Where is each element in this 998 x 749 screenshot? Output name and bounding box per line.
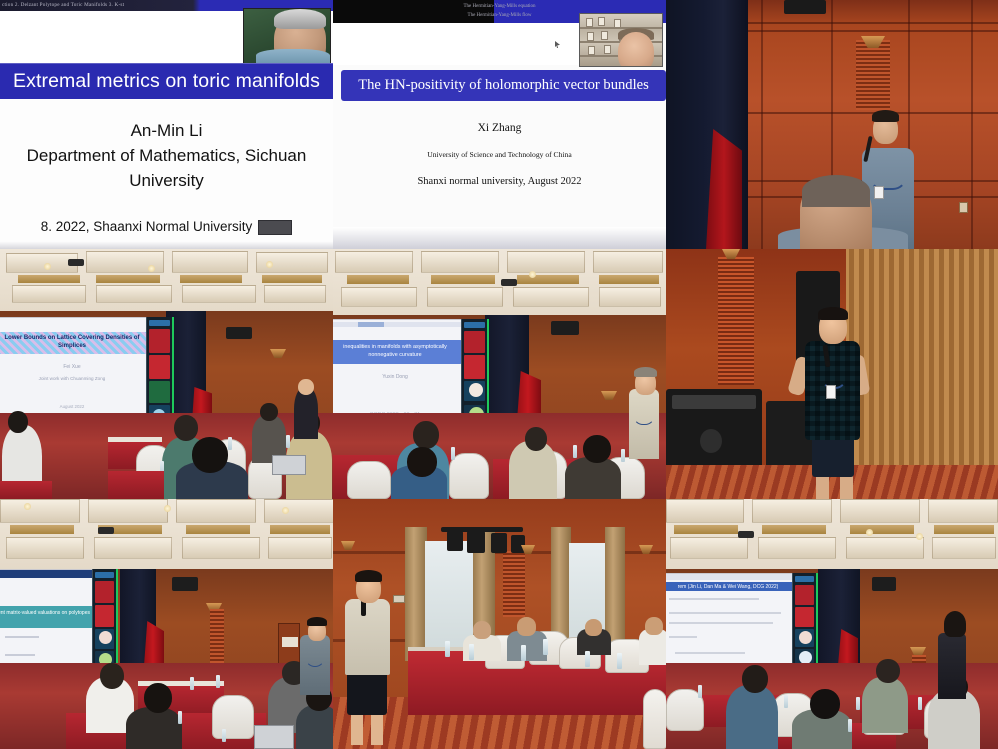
wall-vent-slats	[718, 257, 754, 385]
ceiling-light	[24, 503, 31, 510]
water-bottle	[451, 447, 455, 460]
zoom-avatar[interactable]	[469, 383, 483, 397]
slide-line	[669, 598, 759, 600]
slide-title-text: ent matrix-valued valuations on polytope…	[0, 609, 93, 617]
draped-table	[0, 481, 52, 499]
zoom-avatar[interactable]	[99, 631, 112, 644]
ceiling-projector	[501, 279, 517, 286]
wall-seam	[744, 112, 998, 114]
conference-room-scene: ent matrix-valued valuations on polytope…	[0, 499, 333, 749]
attendee-head	[174, 415, 198, 441]
ceiling-coffer	[593, 251, 663, 273]
wall-speaker	[551, 321, 579, 335]
shelf-box	[614, 19, 621, 28]
stage-light	[511, 535, 525, 553]
speaker-lanyard	[869, 146, 907, 190]
speaker-badge	[874, 186, 884, 199]
panel-photo-room-valuations: ent matrix-valued valuations on polytope…	[0, 499, 333, 749]
slide-bullet	[5, 654, 35, 656]
seated-participant-head	[473, 621, 491, 639]
draped-table	[108, 471, 164, 499]
slide-title-text: Extremal metrics on toric manifolds	[13, 70, 320, 93]
ceiling-coffer	[507, 251, 585, 273]
panel-slide-hn-positivity[interactable]: The Hermitian-Yang-Mills equation The He…	[333, 0, 666, 249]
shelf-box	[601, 31, 608, 40]
slide-bottom-shade	[0, 241, 333, 249]
ceiling-beam	[850, 525, 914, 534]
foreground-attendee-hair	[802, 175, 870, 207]
ceiling-beam	[270, 525, 330, 534]
speaker-hair	[818, 307, 848, 320]
ceiling-coffer	[0, 499, 80, 523]
zoom-toolbar[interactable]	[795, 576, 814, 582]
shelf-box	[586, 18, 593, 27]
slide-venue-text: 8. 2022, Shaanxi Normal University	[41, 219, 253, 234]
ceiling-coffer	[96, 285, 172, 303]
slide-title-text: inequalities in manifolds with asymptoti…	[333, 343, 462, 359]
wall-seam	[744, 22, 998, 24]
speaker-hair	[634, 367, 657, 377]
ceiling-coffer	[176, 499, 256, 523]
ceiling-coffer	[341, 287, 417, 307]
slide-line	[669, 612, 781, 614]
ceiling-coffer	[268, 537, 332, 559]
ceiling-coffer	[427, 287, 503, 307]
panel-photo-room-lattice-covering: Lower Bounds on Lattice Covering Densiti…	[0, 249, 333, 499]
water-bottle	[856, 697, 860, 710]
equipment-rack	[672, 395, 756, 409]
ceiling-light	[44, 263, 51, 270]
stage-light	[447, 531, 463, 551]
water-bottle	[286, 435, 290, 448]
ceiling-coffer	[928, 499, 998, 523]
ceiling-beam	[186, 525, 250, 534]
ceiling-beam	[599, 275, 659, 284]
panel-photo-stage-speaker	[666, 0, 998, 249]
panel-photo-room-inequalities: inequalities in manifolds with asymptoti…	[333, 249, 666, 499]
water-bottle	[621, 449, 625, 462]
water-bottle	[228, 437, 232, 450]
zoom-avatar[interactable]	[799, 631, 812, 644]
ceiling-coffer	[846, 537, 924, 559]
slide-line	[669, 636, 697, 638]
ceiling-light	[282, 507, 289, 514]
attendee-head	[192, 437, 228, 473]
water-bottle	[178, 711, 182, 724]
speaker-hair	[872, 110, 899, 122]
attendee-body	[726, 685, 778, 749]
wall-speaker	[226, 327, 252, 339]
ceiling-light	[529, 271, 536, 278]
ceiling-coffer	[752, 499, 832, 523]
attendee-head	[810, 689, 840, 719]
ceiling-beam	[96, 275, 160, 283]
stage-light	[467, 531, 485, 553]
zoom-thumbnail[interactable]	[149, 381, 170, 403]
slide-affiliation-line2: University	[0, 168, 333, 193]
ceiling-coffer	[758, 537, 836, 559]
panel-slide-extremal-metrics[interactable]: ction 2. Delzant Polytope and Toric Mani…	[0, 0, 333, 249]
slide-tab	[358, 322, 384, 327]
stage-scene	[666, 0, 998, 249]
seated-participant-head	[517, 617, 536, 636]
ceiling-coffer	[932, 537, 996, 559]
photo-collage: ction 2. Delzant Polytope and Toric Mani…	[0, 0, 998, 749]
ceiling-light	[266, 261, 273, 268]
slide-subline-text: Joint work with Chuanming Zong	[0, 376, 147, 381]
slide-title-banner: Extremal metrics on toric manifolds	[0, 63, 333, 99]
slide-toolbar	[333, 322, 462, 327]
shelf-box	[587, 32, 594, 41]
shelf-box	[598, 17, 605, 26]
speaker-hair	[307, 617, 327, 626]
ceiling-beam	[517, 275, 579, 284]
slide-line	[669, 622, 773, 624]
water-bottle	[469, 644, 474, 660]
speaker-hair	[944, 611, 966, 637]
zoom-thumbnail[interactable]	[95, 605, 114, 627]
panel-photo-panel-table	[333, 499, 666, 749]
slide-author-text: Fei Xue	[0, 364, 147, 370]
ceiling-beam	[10, 525, 74, 534]
ceiling-coffer	[12, 285, 86, 303]
panel-photo-room-dcg: rem (Jin Li, Dan Ma & Wei Wang, DCG 2022…	[666, 499, 998, 749]
attendee-head	[100, 663, 124, 689]
zoom-thumbnail[interactable]	[464, 331, 485, 353]
slide-place-date: Shanxi normal university, August 2022	[333, 176, 666, 187]
slide-title-banner: The HN-positivity of holomorphic vector …	[341, 70, 666, 101]
slide-title-text: The HN-positivity of holomorphic vector …	[358, 77, 649, 94]
speaker-lanyard	[633, 395, 655, 425]
slide-title-text: rem (Jin Li, Dan Ma & Wei Wang, DCG 2022…	[666, 583, 793, 591]
wall-outlet	[393, 595, 405, 603]
slide-header-line1: The Hermitian-Yang-Mills equation	[333, 2, 666, 11]
zoom-toolbar[interactable]	[149, 320, 170, 326]
ceiling-beam	[262, 275, 322, 283]
speaker-lanyard	[305, 641, 325, 667]
water-bottle	[521, 645, 526, 661]
ceiling-light	[148, 265, 155, 272]
speaker-shorts	[812, 435, 854, 477]
attendee-head	[583, 435, 611, 463]
ceiling-coffer	[88, 499, 168, 523]
ceiling-projector	[738, 531, 754, 538]
speaker-leg	[351, 711, 363, 745]
ceiling-coffer	[599, 287, 661, 307]
ceiling-beam	[347, 275, 409, 284]
water-bottle	[617, 653, 622, 669]
water-bottle	[216, 675, 220, 688]
slide-venue-line: 8. 2022, Shaanxi Normal University	[0, 219, 333, 235]
ceiling-coffer	[840, 499, 920, 523]
laptop	[254, 725, 294, 749]
ceiling-light	[866, 529, 873, 536]
ceiling-projector	[68, 259, 84, 266]
ceiling-coffer	[335, 251, 413, 273]
ceiling-coffer	[6, 537, 84, 559]
speaker-badge	[826, 385, 836, 399]
ceiling-coffer	[182, 537, 260, 559]
water-bottle	[784, 695, 788, 708]
seated-participant-head	[645, 617, 663, 635]
attendee-head	[8, 411, 28, 433]
zoom-thumbnail[interactable]	[464, 355, 485, 379]
wall-vent-slats	[503, 551, 525, 617]
slide-speaker-name: Xi Zhang	[333, 122, 666, 134]
ceiling-beam	[762, 525, 826, 534]
water-bottle	[848, 719, 852, 732]
audio-equipment-case	[666, 389, 762, 469]
ceiling-beam	[18, 275, 80, 283]
conference-room-scene: inequalities in manifolds with asymptoti…	[333, 249, 666, 499]
wall-vent-slats	[210, 609, 224, 669]
presenter-webcam	[243, 8, 331, 66]
slide-bullet	[5, 636, 39, 638]
window-curtain	[405, 527, 427, 661]
panel-discussion-scene	[333, 499, 666, 749]
water-bottle	[918, 697, 922, 710]
wall-speaker	[872, 577, 896, 591]
slide-affiliation-line1: Department of Mathematics, Sichuan	[0, 143, 333, 168]
slide-toolbar	[666, 574, 793, 580]
slide-author-block: An-Min Li Department of Mathematics, Sic…	[0, 118, 333, 193]
zoom-thumbnail[interactable]	[795, 607, 814, 627]
equipment-logo	[700, 429, 722, 453]
chair	[212, 695, 254, 739]
ceiling-coffer	[513, 287, 589, 307]
slide-bottom-shade	[333, 227, 666, 249]
slide-author-name: An-Min Li	[0, 118, 333, 143]
slide-affiliation: University of Science and Technology of …	[333, 150, 666, 159]
speaker-shorts	[347, 671, 387, 715]
ceiling-projector	[98, 527, 114, 534]
wall-vent-slats	[856, 40, 890, 110]
wall-switch	[959, 202, 968, 213]
door-sign	[282, 637, 298, 647]
water-bottle	[573, 445, 577, 458]
speaker-leg	[816, 475, 829, 499]
attendee-body	[296, 705, 333, 749]
water-bottle	[698, 685, 702, 698]
presenter-hair	[274, 9, 326, 29]
shelf-board	[580, 27, 662, 29]
shelf-box	[604, 45, 611, 54]
speaker-leg	[840, 475, 853, 499]
speaker-hair	[355, 570, 382, 582]
presenter-webcam	[579, 13, 663, 67]
ceiling-speaker	[784, 0, 826, 14]
ceiling-coffer	[182, 285, 256, 303]
standing-person-head	[298, 379, 314, 395]
speaker-leg	[371, 711, 383, 745]
ceiling-coffer	[670, 537, 748, 559]
attendee-head	[260, 403, 278, 421]
stage-light	[491, 533, 507, 553]
presenter-face	[618, 32, 654, 67]
ceiling-beam	[934, 525, 994, 534]
ceiling-coffer	[264, 499, 333, 523]
laptop	[272, 455, 306, 475]
zoom-toolbar[interactable]	[95, 572, 114, 578]
speaker-torso	[345, 599, 390, 675]
zoom-thumbnail[interactable]	[149, 329, 170, 353]
speaker-torso	[938, 633, 966, 699]
ceiling-light	[164, 505, 171, 512]
attendee-head	[876, 659, 900, 683]
attendee-body	[565, 457, 621, 499]
slide-date-text: August 2022	[0, 404, 147, 409]
attendee-head	[413, 421, 439, 449]
slide-white-strip	[0, 11, 255, 63]
zoom-thumbnail[interactable]	[795, 585, 814, 605]
wall-seam-vertical	[971, 0, 973, 249]
ceiling-light	[916, 533, 923, 540]
slide-author-text: Yuxin Dong	[333, 374, 462, 380]
chair	[449, 453, 489, 499]
shelf-box	[588, 46, 595, 55]
chair	[347, 461, 391, 499]
ceiling-coffer	[264, 285, 326, 303]
wall-seam-vertical	[761, 0, 763, 249]
ceiling-coffer	[421, 251, 499, 273]
ceiling-coffer	[172, 251, 248, 273]
attendee-head	[742, 665, 768, 693]
water-bottle	[543, 639, 548, 655]
ceiling-coffer	[666, 499, 744, 523]
slide-line	[675, 652, 745, 654]
zoom-thumbnail[interactable]	[149, 355, 170, 379]
redacted-block	[258, 220, 292, 235]
wall-speaker	[172, 577, 198, 591]
zoom-toolbar[interactable]	[464, 322, 485, 328]
conference-room-scene: rem (Jin Li, Dan Ma & Wei Wang, DCG 2022…	[666, 499, 998, 749]
water-bottle	[190, 677, 194, 690]
zoom-thumbnail[interactable]	[95, 581, 114, 603]
water-bottle	[445, 641, 450, 657]
stage-scene	[666, 249, 998, 499]
ceiling-beam	[180, 275, 242, 283]
attendee-head	[525, 427, 547, 451]
ceiling-beam	[674, 525, 738, 534]
seated-participant-head	[585, 619, 602, 636]
attendee-body	[126, 707, 182, 749]
slide-toolbar	[0, 570, 93, 578]
water-bottle	[222, 729, 226, 742]
water-bottle	[585, 651, 590, 667]
ceiling-coffer	[94, 537, 172, 559]
attendee-head	[407, 447, 437, 477]
slide-title-text: Lower Bounds on Lattice Covering Densiti…	[0, 334, 147, 350]
wall-seam	[744, 30, 998, 32]
stage-table-top	[108, 437, 162, 442]
attendee-head	[144, 683, 172, 713]
panel-photo-plaid-speaker	[666, 249, 998, 499]
chair	[643, 689, 666, 749]
attendee-body	[862, 677, 908, 733]
conference-room-scene: Lower Bounds on Lattice Covering Densiti…	[0, 249, 333, 499]
ceiling-beam	[431, 275, 495, 284]
